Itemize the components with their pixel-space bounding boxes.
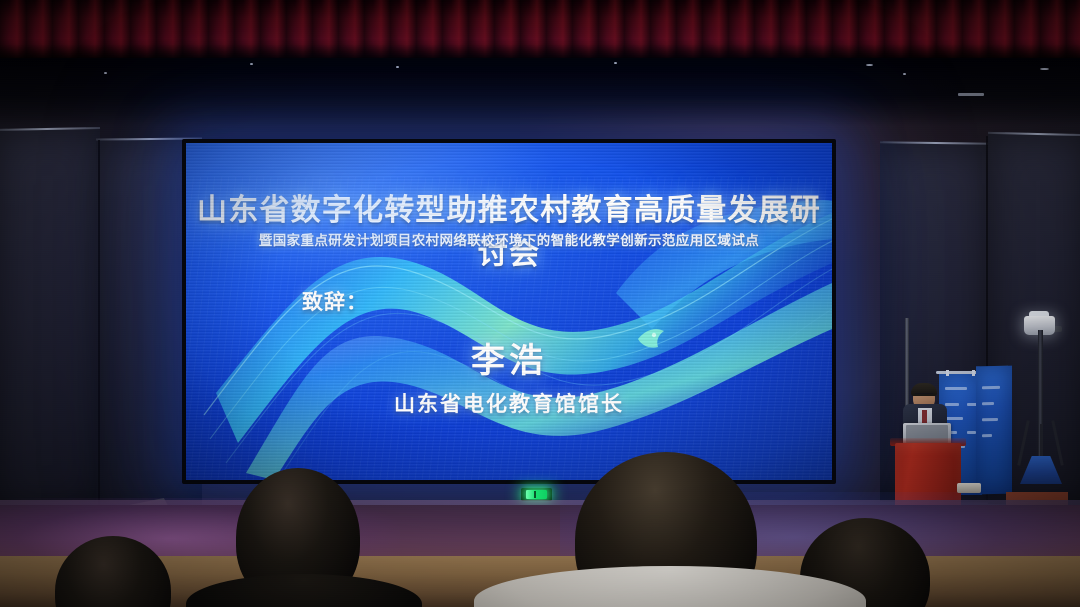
panel-seam xyxy=(98,140,100,515)
blue-banner-right xyxy=(976,366,1012,495)
ceiling-light-glint xyxy=(1040,68,1049,70)
ceiling-light-glint xyxy=(614,62,617,64)
slide-speaker-name: 李浩 xyxy=(186,333,832,382)
banner-clip xyxy=(972,370,975,376)
ceiling-light-glint xyxy=(104,72,107,74)
led-screen: 山东省数字化转型助推农村教育高质量发展研讨会 暨国家重点研发计划项目农村网络联校… xyxy=(186,143,832,480)
ceiling-light-strip xyxy=(958,93,984,96)
slide-role-label: 致辞： xyxy=(302,286,368,316)
ceiling-light-glint xyxy=(866,64,873,66)
ceiling-light-glint xyxy=(250,63,253,65)
exit-sign-glow xyxy=(526,490,547,499)
ceiling-shadow xyxy=(0,58,1080,126)
ceiling-light-glint xyxy=(396,66,399,68)
equipment-stand-pole xyxy=(905,318,909,418)
conference-hall-photo: 山东省数字化转型助推农村教育高质量发展研讨会 暨国家重点研发计划项目农村网络联校… xyxy=(0,0,1080,607)
slide-subtitle: 暨国家重点研发计划项目农村网络联校环境下的智能化教学创新示范应用区域试点 xyxy=(186,229,832,249)
slide-speaker-title: 山东省电化教育馆馆长 xyxy=(186,388,832,418)
exit-sign-bar xyxy=(534,491,536,498)
stage-panel-left-outer xyxy=(0,127,100,514)
speaker-glasses-icon xyxy=(915,393,933,398)
banner-clip xyxy=(946,370,949,376)
ceiling-light-glint xyxy=(903,73,906,75)
